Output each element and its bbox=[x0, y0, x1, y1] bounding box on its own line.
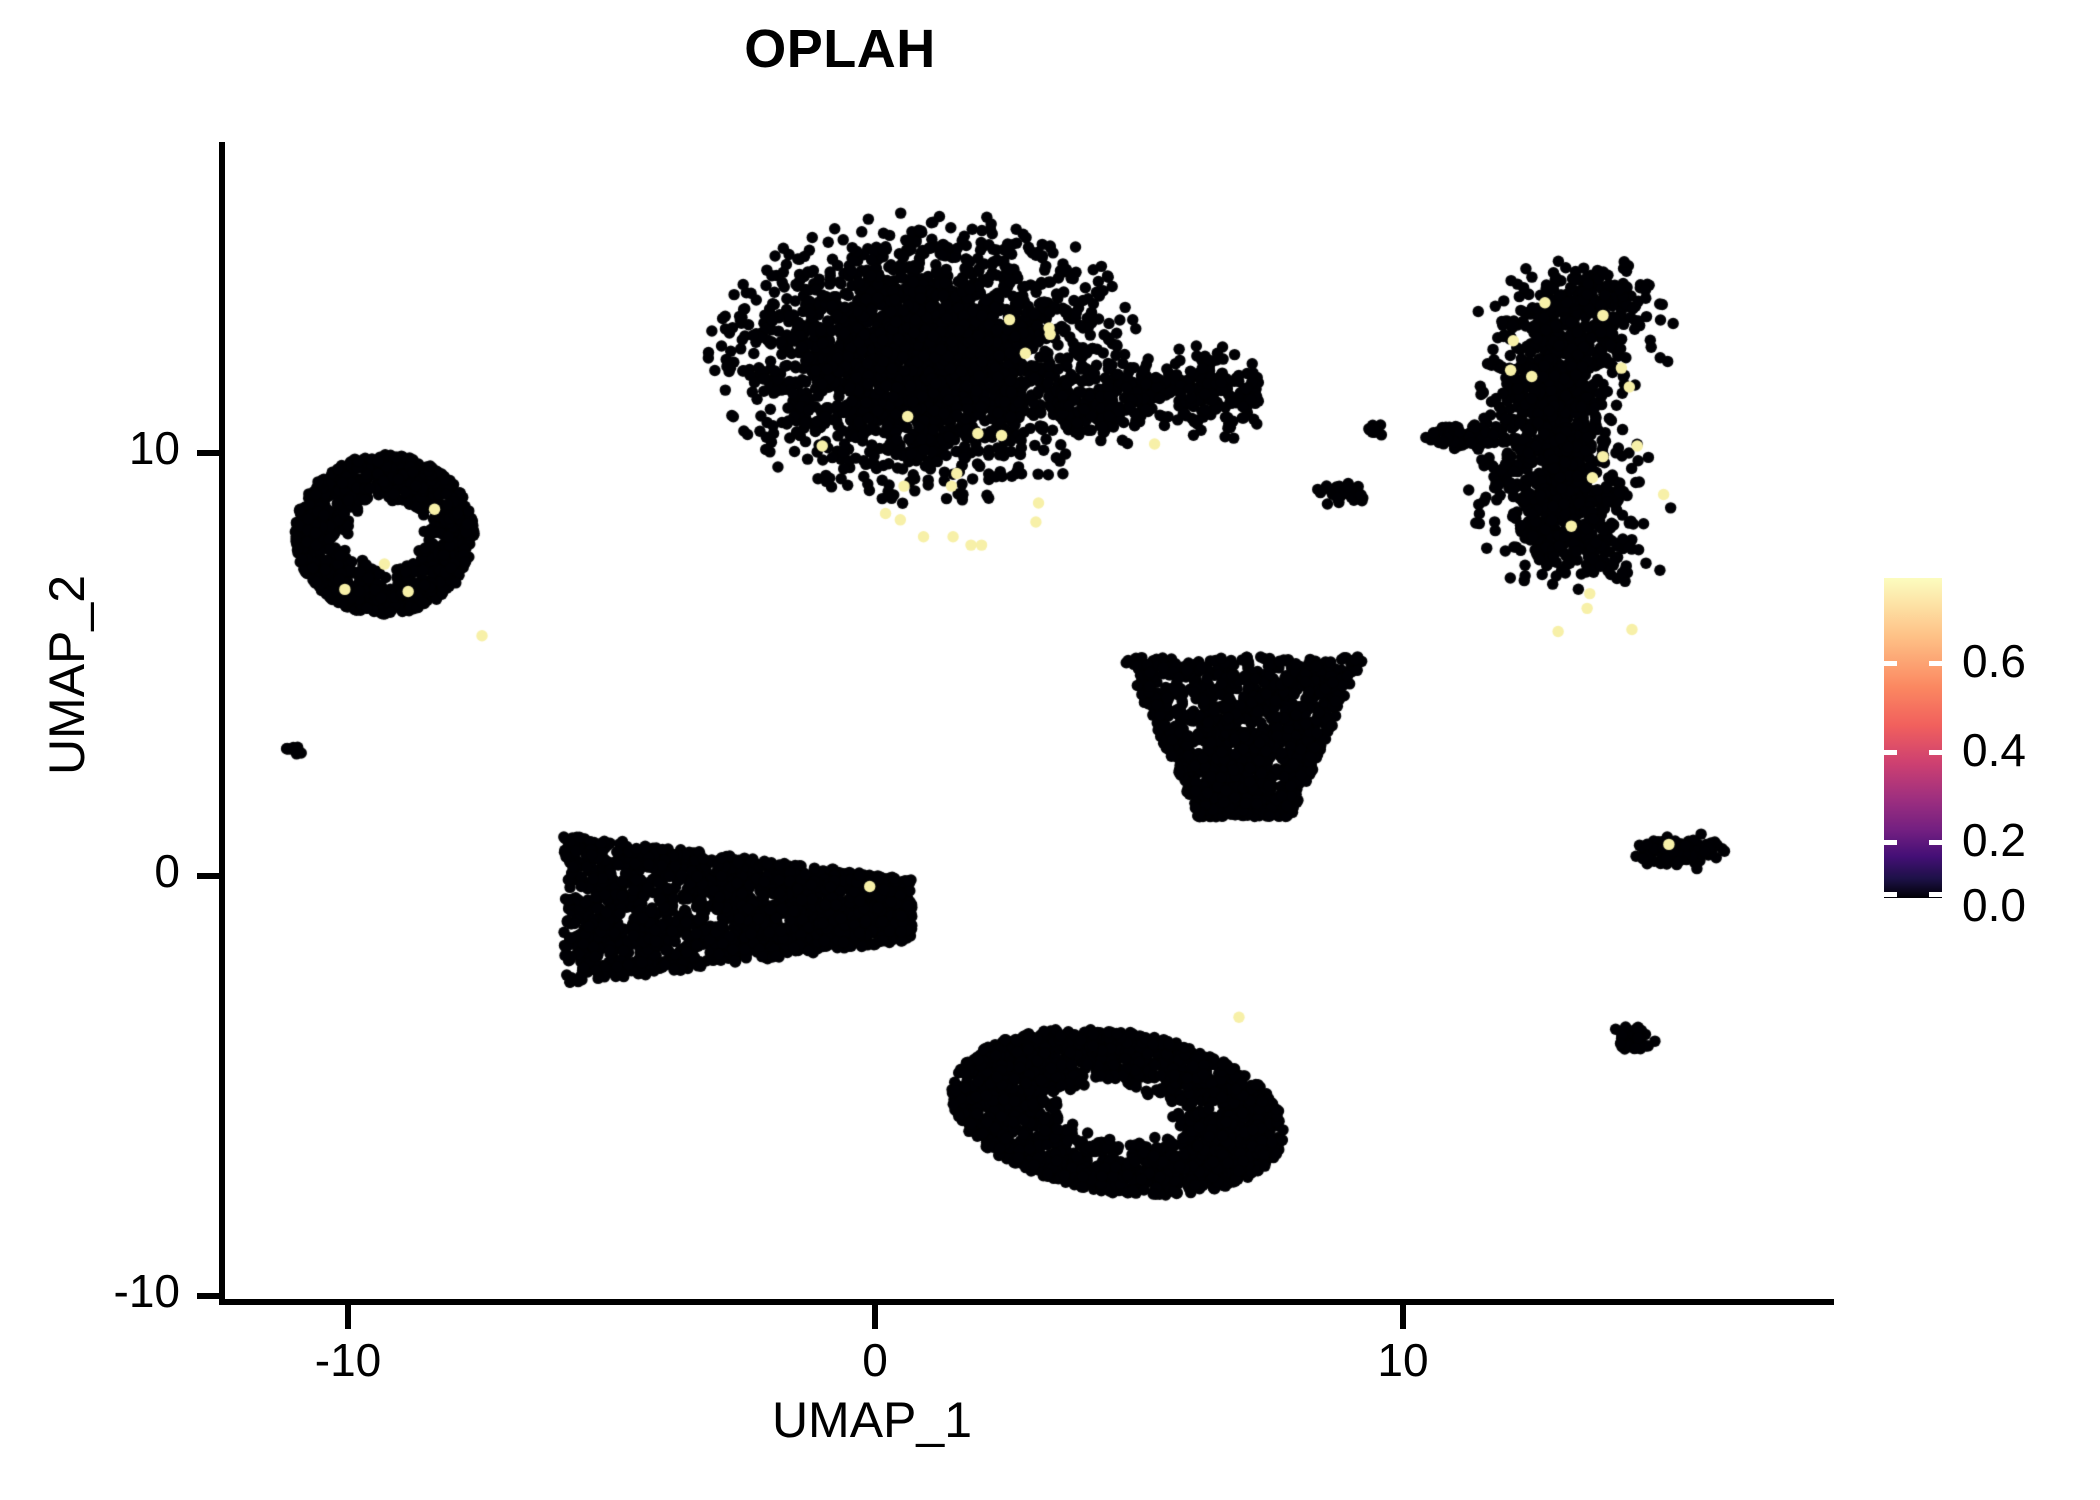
x-tick-10 bbox=[1400, 1305, 1406, 1329]
colorbar-legend: 0.6 0.4 0.2 0.0 bbox=[1884, 578, 2084, 898]
y-tick-0 bbox=[197, 873, 221, 879]
x-ticklabel-10: 10 bbox=[1303, 1337, 1503, 1383]
umap-scatter-canvas bbox=[222, 142, 1832, 1302]
x-ticklabel-minus10: -10 bbox=[248, 1337, 448, 1383]
colorbar-tick-0.6-right bbox=[1929, 661, 1942, 666]
y-axis-line bbox=[219, 142, 225, 1305]
colorbar-label-0.2: 0.2 bbox=[1962, 817, 2026, 863]
colorbar-tick-0.4-left bbox=[1884, 750, 1897, 755]
plot-panel bbox=[222, 142, 1832, 1302]
colorbar-tick-0.6-left bbox=[1884, 661, 1897, 666]
y-tick-minus10 bbox=[197, 1293, 221, 1299]
colorbar-tick-0.0-right bbox=[1929, 892, 1942, 897]
colorbar-label-0.4: 0.4 bbox=[1962, 727, 2026, 773]
colorbar-tick-0.2-right bbox=[1929, 840, 1942, 845]
x-tick-minus10 bbox=[345, 1305, 351, 1329]
x-axis-line bbox=[219, 1299, 1834, 1305]
x-ticklabel-0: 0 bbox=[775, 1337, 975, 1383]
colorbar-tick-0.2-left bbox=[1884, 840, 1897, 845]
y-tick-10 bbox=[197, 450, 221, 456]
y-axis-title: UMAP_2 bbox=[42, 355, 92, 995]
x-axis-title: UMAP_1 bbox=[222, 1395, 1522, 1445]
page-title: OPLAH bbox=[0, 22, 1680, 76]
colorbar-tick-0.0-left bbox=[1884, 892, 1897, 897]
colorbar-label-0.0: 0.0 bbox=[1962, 882, 2026, 928]
figure-root: OPLAH 10 0 -10 -10 0 10 UMAP_1 UMAP_2 0.… bbox=[0, 0, 2100, 1500]
colorbar-tick-0.4-right bbox=[1929, 750, 1942, 755]
colorbar-gradient bbox=[1884, 578, 1942, 898]
colorbar-label-0.6: 0.6 bbox=[1962, 638, 2026, 684]
x-tick-0 bbox=[872, 1305, 878, 1329]
y-ticklabel-minus10: -10 bbox=[0, 1268, 180, 1314]
